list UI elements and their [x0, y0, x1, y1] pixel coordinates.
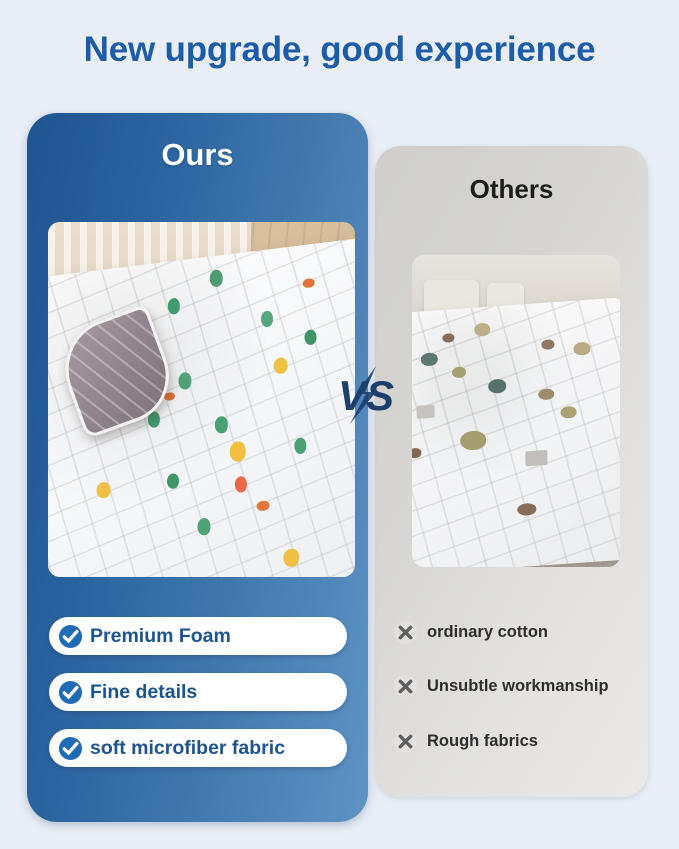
print-motif-animal	[541, 339, 554, 350]
feature-label: Premium Foam	[90, 625, 231, 648]
drawback-row-unsubtle-workmanship: Unsubtle workmanship	[393, 671, 609, 701]
print-motif-tree	[197, 517, 210, 536]
vs-text: VS	[338, 372, 394, 419]
print-motif-animal	[517, 503, 536, 516]
infographic-page: New upgrade, good experience Others Ours	[0, 0, 679, 849]
print-motif-tree	[209, 268, 222, 287]
others-product-photo	[412, 255, 620, 567]
print-motif-animal	[256, 499, 269, 511]
feature-pill-soft-microfiber-fabric[interactable]: soft microfiber fabric	[49, 729, 347, 767]
print-motif-animal	[573, 341, 590, 355]
others-heading: Others	[375, 174, 648, 205]
print-motif-leaf	[452, 366, 466, 378]
drawback-label: Unsubtle workmanship	[427, 677, 609, 696]
drawback-label: Rough fabrics	[427, 732, 538, 751]
drawback-label: ordinary cotton	[427, 623, 548, 642]
print-motif-tree	[420, 352, 437, 366]
x-circle-icon	[393, 620, 418, 645]
feature-pill-premium-foam[interactable]: Premium Foam	[49, 617, 347, 655]
print-motif-house	[417, 405, 435, 419]
print-motif-balloon	[283, 547, 300, 567]
print-motif-tree	[167, 473, 179, 490]
print-motif-animal	[474, 322, 490, 336]
feature-label: Fine details	[90, 681, 197, 704]
feature-pill-fine-details[interactable]: Fine details	[49, 673, 347, 711]
print-motif-balloon	[273, 356, 287, 374]
check-circle-icon	[58, 680, 83, 705]
print-motif-tree	[214, 415, 227, 434]
check-circle-icon	[58, 736, 83, 761]
ours-product-photo	[48, 222, 355, 577]
drawback-row-rough-fabrics: Rough fabrics	[393, 726, 538, 756]
print-motif-leaf	[460, 430, 486, 451]
print-motif-balloon	[229, 440, 246, 462]
print-motif-tree	[168, 297, 180, 315]
print-motif-animal	[442, 333, 454, 343]
ours-heading: Ours	[27, 137, 368, 173]
feature-label: soft microfiber fabric	[90, 737, 285, 760]
print-motif-leaf	[560, 405, 576, 418]
check-circle-icon	[58, 624, 83, 649]
print-motif-tree	[293, 437, 305, 455]
print-motif-tree	[177, 372, 190, 391]
x-circle-icon	[393, 674, 418, 699]
print-motif-animal	[302, 278, 314, 288]
print-motif-animal	[538, 389, 554, 401]
x-circle-icon	[393, 729, 418, 754]
print-motif-rocket	[234, 475, 246, 493]
print-motif-tree	[260, 310, 272, 328]
drawback-row-ordinary-cotton: ordinary cotton	[393, 617, 548, 647]
print-motif-animal	[412, 448, 422, 459]
page-title: New upgrade, good experience	[0, 30, 679, 70]
vs-badge: VS	[336, 364, 410, 426]
print-motif-tree	[304, 329, 316, 346]
print-motif-balloon	[96, 481, 110, 499]
print-motif-tree	[488, 379, 506, 394]
mat-surface	[412, 297, 620, 567]
print-motif-house	[525, 450, 547, 467]
